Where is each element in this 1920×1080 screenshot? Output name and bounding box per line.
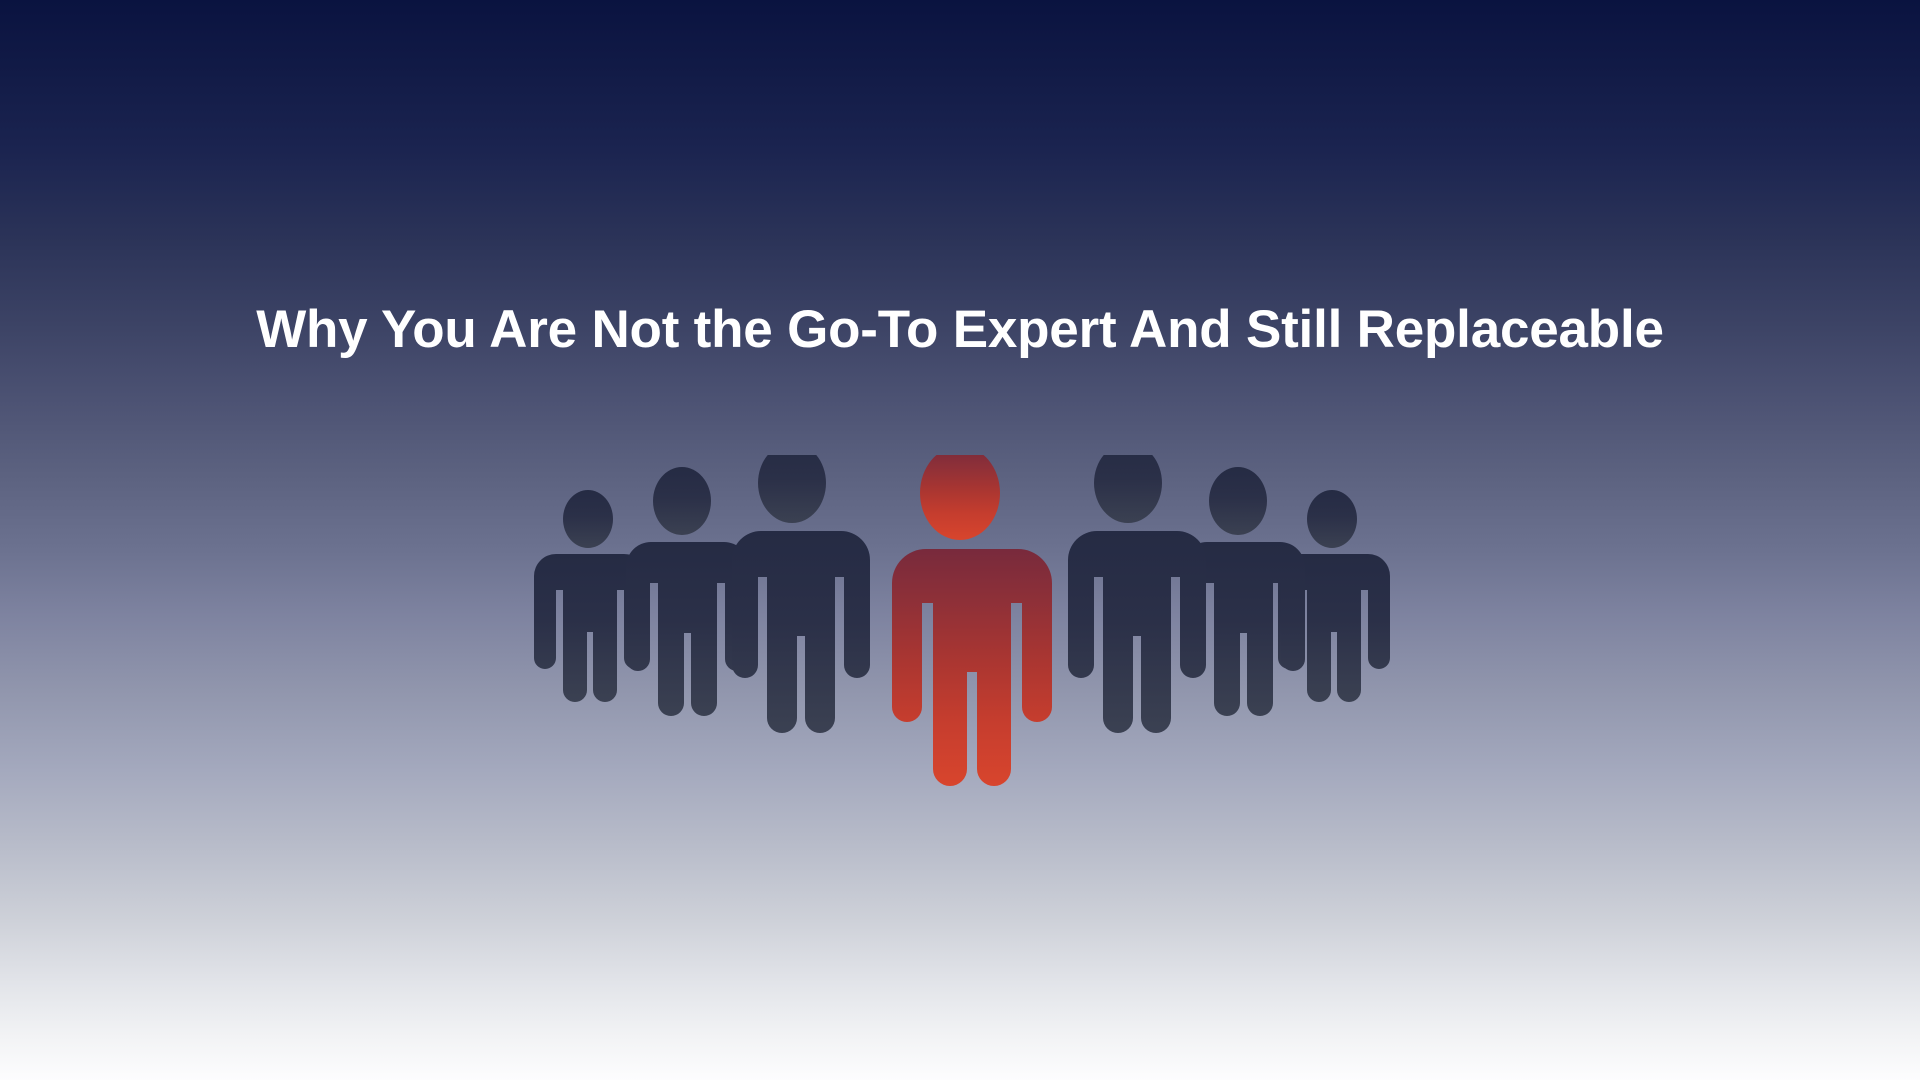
highlighted-figure (892, 455, 1052, 786)
crowd-figure-2 (626, 467, 749, 716)
hero-banner: Why You Are Not the Go-To Expert And Sti… (0, 0, 1920, 1080)
crowd-figure-3 (732, 455, 870, 733)
crowd-figure-5 (1068, 455, 1206, 733)
crowd-illustration (530, 455, 1390, 955)
title-block: Why You Are Not the Go-To Expert And Sti… (0, 300, 1920, 361)
page-title: Why You Are Not the Go-To Expert And Sti… (256, 300, 1664, 361)
